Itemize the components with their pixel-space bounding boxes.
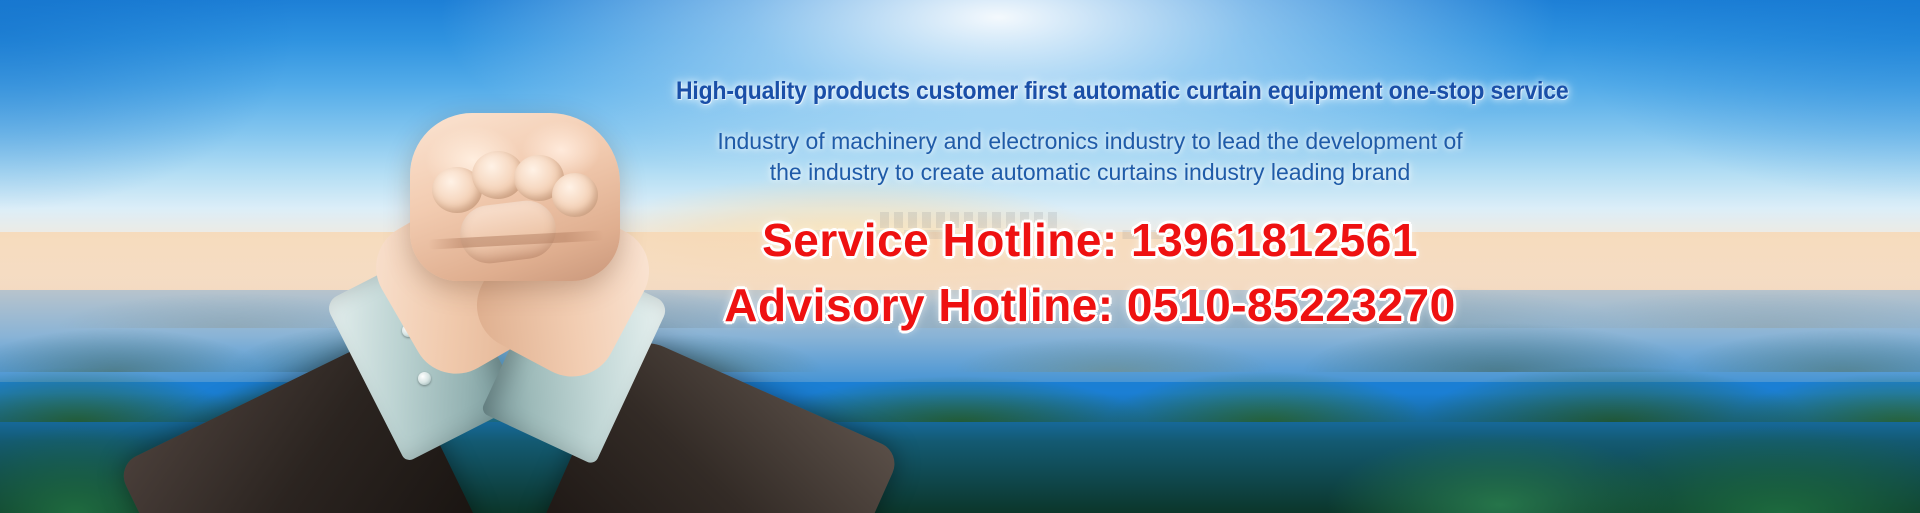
banner-subtitle: Industry of machinery and electronics in… [670,126,1510,188]
cuff-button-icon [418,372,431,385]
advisory-hotline[interactable]: Advisory Hotline: 0510-85223270 [640,278,1540,332]
banner-subtitle-line-1: Industry of machinery and electronics in… [717,128,1462,154]
banner-headline: High-quality products customer first aut… [676,78,1504,106]
promo-banner: High-quality products customer first aut… [0,0,1920,513]
service-hotline[interactable]: Service Hotline: 13961812561 [640,213,1540,267]
banner-subtitle-line-2: the industry to create automatic curtain… [670,157,1510,188]
foliage-right [1220,313,1920,513]
knuckle [552,173,598,217]
